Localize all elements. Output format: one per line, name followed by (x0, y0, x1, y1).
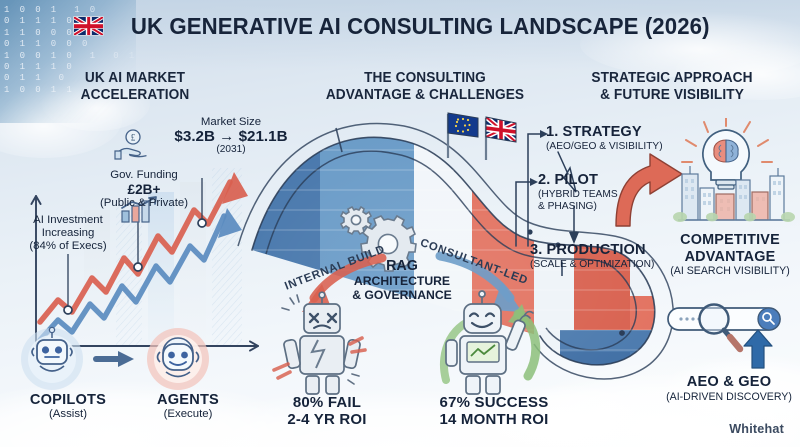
heading-mid-line2: ADVANTAGE & CHALLENGES (306, 87, 544, 104)
ai-investment-line2: Increasing (2, 227, 134, 240)
copilot-robot-icon (21, 327, 83, 390)
gov-funding-line3: (Public & Private) (92, 197, 196, 210)
fail-line2: 2-4 YR ROI (262, 411, 392, 428)
annotation-market-size: Market Size $3.2B → $21.1B (2031) (168, 116, 294, 156)
copilots-subtitle: (Assist) (8, 408, 128, 420)
competitive-advantage-label: COMPETITIVE ADVANTAGE (AI SEARCH VISIBIL… (660, 232, 800, 278)
success-line2: 14 MONTH ROI (410, 411, 578, 428)
fail-caption: 80% FAIL 2-4 YR ROI (262, 394, 392, 429)
aeo-geo-label: AEO & GEO (AI-DRIVEN DISCOVERY) (654, 374, 800, 403)
uk-flag-icon (73, 16, 104, 36)
eu-flag-icon (448, 113, 478, 158)
right-arrow-icon (96, 351, 134, 367)
heading-right-line1: STRATEGIC APPROACH (562, 70, 782, 87)
agents-caption: AGENTS (Execute) (128, 392, 248, 420)
annotation-gov-funding: Gov. Funding £2B+ (Public & Private) (92, 169, 196, 210)
market-size-line3: (2031) (168, 144, 294, 156)
competitive-line1: COMPETITIVE (660, 232, 800, 249)
hand-with-pound-coin-icon: £ (112, 129, 154, 163)
ai-investment-line3: (84% of Execs) (2, 240, 134, 253)
gov-funding-line1: Gov. Funding (92, 169, 196, 182)
svg-text:£: £ (131, 133, 136, 143)
page-title: UK GENERATIVE AI CONSULTING LANDSCAPE (2… (131, 13, 710, 40)
road-divider-tick (336, 128, 342, 152)
heading-left-line2: ACCELERATION (45, 87, 226, 104)
red-up-arrow-icon (616, 154, 682, 226)
fail-line1: 80% FAIL (262, 394, 392, 411)
title-bar: UK GENERATIVE AI CONSULTING LANDSCAPE (2… (0, 9, 800, 43)
market-size-line1: Market Size (168, 116, 294, 129)
competitive-advantage-illustration (604, 118, 800, 234)
copilots-to-agents-diagram (18, 326, 248, 392)
section-heading-middle: THE CONSULTING ADVANTAGE & CHALLENGES (306, 70, 544, 103)
gov-funding-value: £2B+ (92, 182, 196, 197)
ai-investment-line1: AI Investment (2, 214, 134, 227)
heading-right-line2: & FUTURE VISIBILITY (562, 87, 782, 104)
market-size-value: $3.2B → $21.1B (168, 129, 294, 144)
watermark: Whitehat (729, 422, 784, 436)
aeo-geo-line2: (AI-DRIVEN DISCOVERY) (654, 391, 800, 403)
section-heading-left: UK AI MARKET ACCELERATION (45, 70, 226, 103)
agents-subtitle: (Execute) (128, 408, 248, 420)
section-heading-right: STRATEGIC APPROACH & FUTURE VISIBILITY (562, 70, 782, 103)
aeo-geo-line1: AEO & GEO (654, 374, 800, 391)
success-caption: 67% SUCCESS 14 MONTH ROI (410, 394, 578, 429)
competitive-line2: ADVANTAGE (660, 249, 800, 266)
copilots-caption: COPILOTS (Assist) (8, 392, 128, 420)
agent-robot-icon (147, 328, 209, 390)
aeo-geo-illustration (664, 300, 794, 376)
competitive-line3: (AI SEARCH VISIBILITY) (660, 265, 800, 277)
heading-left-line1: UK AI MARKET (45, 70, 226, 87)
agents-title: AGENTS (128, 392, 248, 408)
rag-line1: RAG (341, 258, 463, 274)
annotation-ai-investment: AI Investment Increasing (84% of Execs) (2, 214, 134, 253)
broken-robot-icon (266, 288, 384, 396)
blue-up-arrow-icon (744, 330, 772, 368)
success-line1: 67% SUCCESS (410, 394, 578, 411)
heading-mid-line1: THE CONSULTING (306, 70, 544, 87)
happy-robot-icon (420, 280, 560, 396)
infographic-canvas: 1 0 0 1 1 0 0 1 1 1 0 1 1 0 0 0 0 1 1 0 … (0, 0, 800, 447)
copilots-title: COPILOTS (8, 392, 128, 408)
